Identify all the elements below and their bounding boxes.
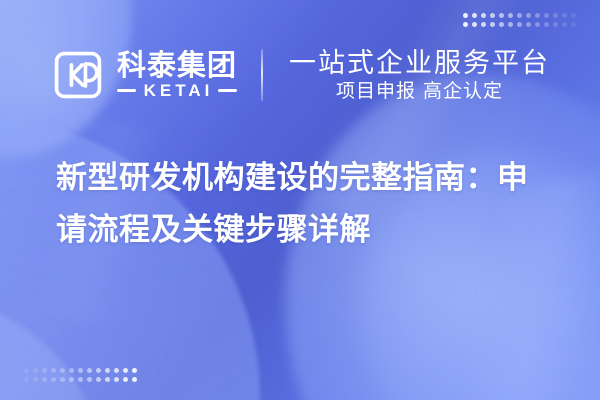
decor-dot xyxy=(463,22,468,27)
decor-dot xyxy=(562,22,567,27)
decor-dot xyxy=(562,13,567,18)
decor-dot xyxy=(508,22,513,27)
decor-dot xyxy=(51,377,56,382)
decor-dot xyxy=(481,22,486,27)
decor-dot xyxy=(463,13,468,18)
decor-dot xyxy=(132,377,137,382)
decor-dot xyxy=(132,368,137,373)
banner-headline: 新型研发机构建设的完整指南：申请流程及关键步骤详解 xyxy=(56,152,554,256)
brand-name-en-row: KETAI xyxy=(117,82,237,99)
decor-dot xyxy=(69,368,74,373)
decor-dot xyxy=(33,368,38,373)
brand-rule-right xyxy=(218,89,237,92)
decor-dot xyxy=(526,22,531,27)
decor-dot xyxy=(544,13,549,18)
decor-dot xyxy=(481,13,486,18)
decor-dot xyxy=(42,368,47,373)
dot-row xyxy=(463,13,576,18)
brand-wordmark: 科泰集团 KETAI xyxy=(117,51,237,99)
decor-dot xyxy=(123,377,128,382)
promo-banner: 科泰集团 KETAI 一站式企业服务平台 项目申报 高企认定 新型研发机构建设的… xyxy=(0,0,600,400)
decor-dot xyxy=(490,13,495,18)
decor-dot xyxy=(535,13,540,18)
decor-dot xyxy=(517,22,522,27)
decor-dot xyxy=(114,377,119,382)
decor-dot xyxy=(24,368,29,373)
bottom-left-inner-circle-shape xyxy=(0,300,98,400)
banner-header: 科泰集团 KETAI 一站式企业服务平台 项目申报 高企认定 xyxy=(0,36,600,114)
decor-dot xyxy=(508,13,513,18)
decor-dot xyxy=(96,368,101,373)
dot-grid-top-right xyxy=(463,13,576,27)
decor-dot xyxy=(571,22,576,27)
brand-name-en: KETAI xyxy=(141,82,214,99)
dot-grid-bottom-left xyxy=(24,368,137,382)
dot-row xyxy=(24,368,137,373)
decor-dot xyxy=(499,13,504,18)
decor-dot xyxy=(544,22,549,27)
brand-lockup: 科泰集团 KETAI xyxy=(50,47,259,103)
decor-dot xyxy=(526,13,531,18)
decor-dot xyxy=(69,377,74,382)
ketai-logo-icon xyxy=(50,47,106,103)
decor-dot xyxy=(42,377,47,382)
decor-dot xyxy=(51,368,56,373)
decor-dot xyxy=(114,368,119,373)
header-divider xyxy=(261,49,263,101)
decor-dot xyxy=(78,368,83,373)
decor-dot xyxy=(60,377,65,382)
decor-dot xyxy=(472,22,477,27)
tagline-block: 一站式企业服务平台 项目申报 高企认定 xyxy=(265,50,550,101)
decor-dot xyxy=(33,377,38,382)
decor-dot xyxy=(60,368,65,373)
dot-row xyxy=(24,377,137,382)
decor-dot xyxy=(499,22,504,27)
tagline-primary: 一站式企业服务平台 xyxy=(289,50,550,77)
brand-rule-left xyxy=(117,89,136,92)
dot-row xyxy=(463,22,576,27)
decor-dot xyxy=(87,368,92,373)
decor-dot xyxy=(96,377,101,382)
decor-dot xyxy=(24,377,29,382)
decor-dot xyxy=(553,22,558,27)
decor-dot xyxy=(517,13,522,18)
decor-dot xyxy=(123,368,128,373)
decor-dot xyxy=(553,13,558,18)
decor-dot xyxy=(490,22,495,27)
brand-name-cn: 科泰集团 xyxy=(117,51,237,80)
decor-dot xyxy=(87,377,92,382)
decor-dot xyxy=(78,377,83,382)
decor-dot xyxy=(472,13,477,18)
decor-dot xyxy=(105,368,110,373)
decor-dot xyxy=(571,13,576,18)
decor-dot xyxy=(535,22,540,27)
tagline-secondary: 项目申报 高企认定 xyxy=(289,82,550,101)
decor-dot xyxy=(105,377,110,382)
